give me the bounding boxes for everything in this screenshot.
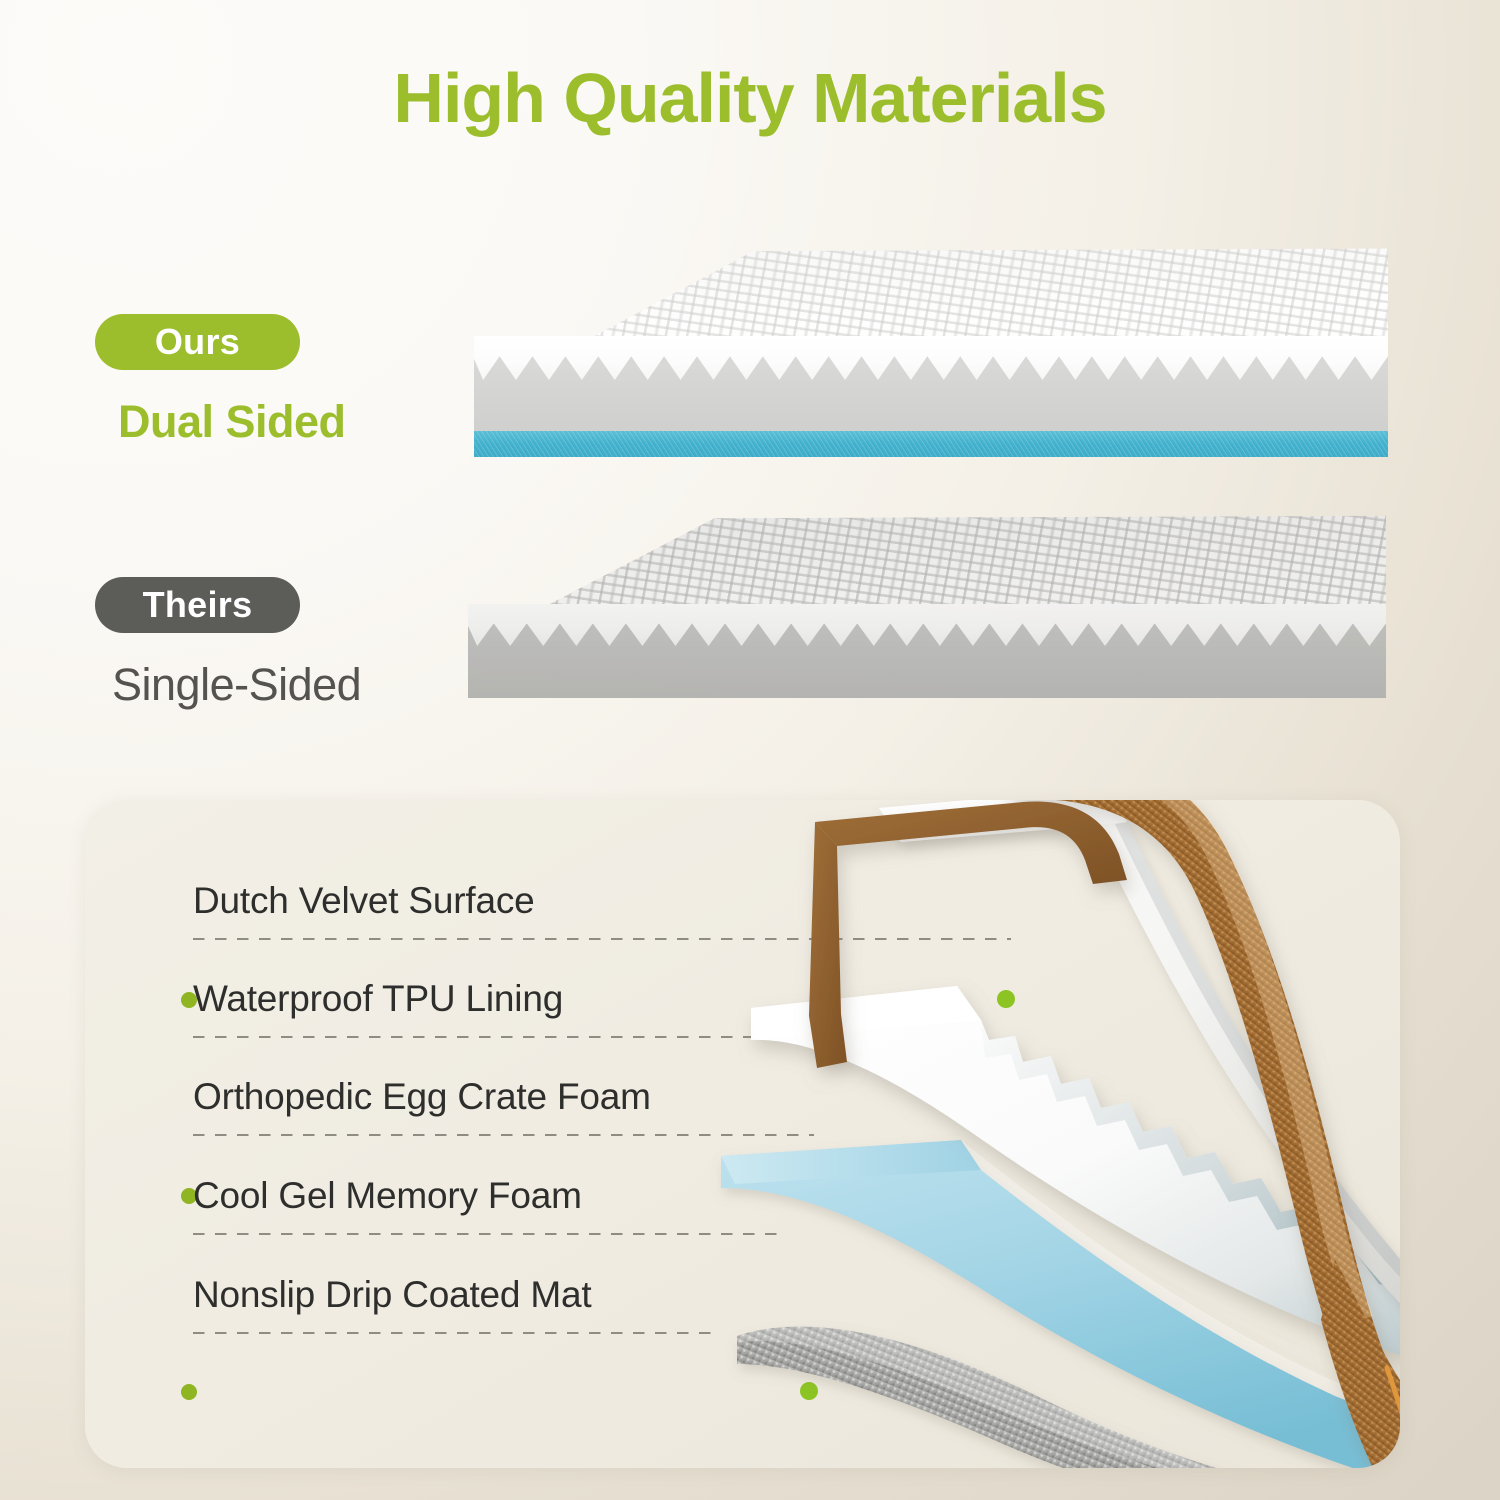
layer-label: Waterproof TPU Lining bbox=[193, 978, 563, 1020]
badge-theirs-label: Theirs bbox=[143, 584, 253, 626]
badge-ours: Ours bbox=[95, 314, 300, 370]
cool-gel-base-layer-ours bbox=[474, 431, 1388, 457]
badge-ours-label: Ours bbox=[155, 321, 240, 363]
badge-theirs: Theirs bbox=[95, 577, 300, 633]
layer-label: Nonslip Drip Coated Mat bbox=[193, 1274, 591, 1316]
layer-label: Cool Gel Memory Foam bbox=[193, 1175, 582, 1217]
exploded-layers-illustration bbox=[775, 840, 1400, 1468]
subtitle-single-sided: Single-Sided bbox=[112, 659, 361, 711]
layers-breakdown-card: Dutch Velvet Surface Waterproof TPU Lini… bbox=[85, 800, 1400, 1468]
infographic-canvas: High Quality Materials Ours Dual Sided T… bbox=[0, 0, 1500, 1500]
layer-label: Dutch Velvet Surface bbox=[193, 880, 535, 922]
subtitle-dual-sided: Dual Sided bbox=[118, 396, 346, 448]
callout-dash-line bbox=[193, 1332, 721, 1334]
callout-dash-line bbox=[193, 1233, 784, 1235]
layer-label: Orthopedic Egg Crate Foam bbox=[193, 1076, 651, 1118]
page-title: High Quality Materials bbox=[0, 62, 1500, 136]
product-image-ours-dual-sided-pad bbox=[468, 246, 1388, 464]
callout-dash-line bbox=[193, 1134, 814, 1136]
product-image-theirs-single-sided-pad bbox=[466, 512, 1386, 704]
callout-dot-start bbox=[181, 1384, 197, 1400]
